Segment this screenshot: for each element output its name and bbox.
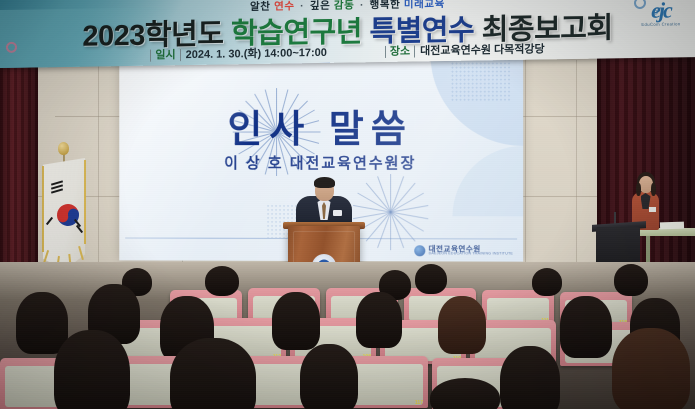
photo-canvas: 알찬 연수 · 깊은 감동 · 행복한 미래교육 인사 말씀 이 상 호 대전교… — [0, 0, 695, 409]
sponsor-logo-caption: EduCom Creation — [635, 21, 687, 27]
audience-head — [560, 296, 612, 358]
staff-name-badge — [649, 207, 656, 212]
staff-hair-left — [636, 183, 641, 196]
sponsor-logo: ejc EduCom Creation — [635, 0, 687, 48]
slide-title: 인사 말씀 — [119, 98, 523, 153]
audience-head — [438, 296, 486, 354]
audience-head — [612, 328, 690, 409]
flag-finial-icon — [58, 142, 69, 155]
audience-head — [532, 268, 562, 296]
institute-logo-name-en: DAEJEON EDUCATION TRAINING INSTITUTE — [429, 253, 513, 257]
sponsor-logo-glyph: ejc — [635, 0, 687, 22]
banner-place-value: 대전교육연수원 다목적강당 — [420, 43, 545, 57]
audience-head — [16, 292, 68, 354]
banner-place: 장소대전교육연수원 다목적강당 — [385, 40, 545, 59]
slide-decor-dots — [450, 57, 511, 101]
audience-head — [356, 292, 402, 348]
audience-head — [415, 264, 447, 294]
staff-hair-right — [651, 183, 656, 196]
speaker-hair — [314, 177, 335, 188]
banner-date-tag: 일시 — [150, 49, 180, 61]
audience-head — [54, 330, 130, 409]
slide-subtitle: 이 상 호 대전교육연수원장 — [119, 152, 523, 173]
audience-head — [614, 264, 648, 296]
audience-area: 107 102 109 105 111 118 116 112 108 — [0, 262, 695, 409]
event-banner: 알찬 연수 · 깊은 감동 · 행복한 미래교육 2023학년도 학습연구년 특… — [0, 0, 695, 68]
institute-logo-mark — [414, 245, 425, 256]
banner-place-tag: 장소 — [385, 45, 415, 57]
audience-head — [170, 338, 256, 409]
seat-number: 117 — [415, 400, 423, 406]
audience-head — [205, 266, 239, 296]
banner-date-value: 2024. 1. 30.(화) 14:00~17:00 — [186, 47, 327, 61]
audience-head — [300, 344, 358, 409]
institute-logo: 대전교육연수원 DAEJEON EDUCATION TRAINING INSTI… — [414, 245, 513, 256]
speaker-name-badge — [333, 210, 342, 216]
audience-head — [272, 292, 320, 350]
korean-flag — [43, 158, 85, 270]
table-documents — [660, 222, 684, 230]
audience-head — [500, 346, 560, 409]
banner-date: 일시2024. 1. 30.(화) 14:00~17:00 — [150, 44, 327, 63]
slide-decor-starburst-2 — [350, 172, 430, 252]
